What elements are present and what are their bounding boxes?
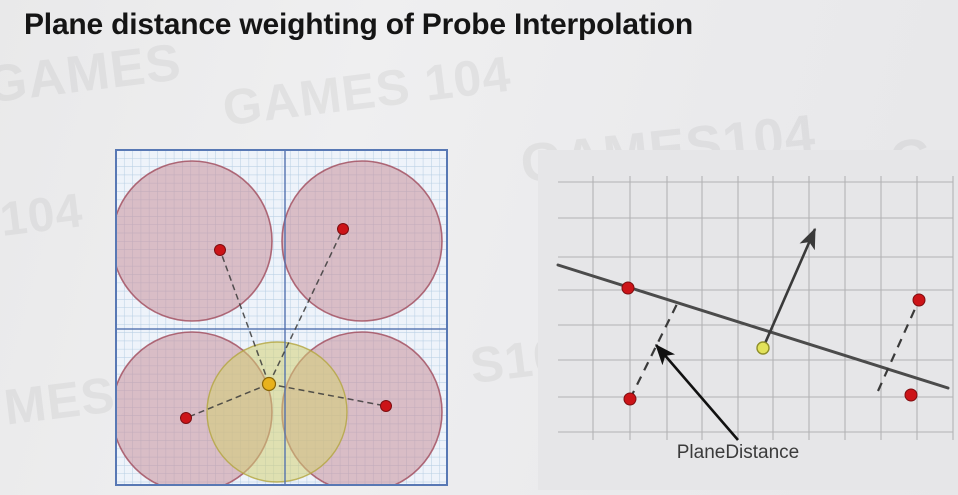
probe-dot-lower-right: [905, 389, 917, 401]
probe-dot-top-left: [215, 245, 226, 256]
probe-circle-top-right: [282, 161, 442, 321]
interpolation-target-dot: [263, 378, 276, 391]
probe-dot-on-plane: [622, 282, 634, 294]
probe-dot-bottom-right: [381, 401, 392, 412]
watermark-text: 104: [0, 183, 86, 248]
probe-dot-below-left: [624, 393, 636, 405]
watermark-text: MES: [1, 365, 119, 436]
probe-dot-top-right: [338, 224, 349, 235]
page-title: Plane distance weighting of Probe Interp…: [24, 8, 693, 42]
probe-dot-upper-right: [913, 294, 925, 306]
plane-distance-svg: PlaneDistance: [548, 170, 958, 490]
interpolation-weight-circle: [207, 342, 347, 482]
gridlines: [538, 150, 958, 490]
probe-grid-svg: [112, 141, 452, 491]
watermark-text: GAMES 104: [220, 45, 515, 138]
diagram-background: [538, 150, 958, 490]
plane-distance-diagram: PlaneDistance: [548, 170, 958, 490]
probe-grid-diagram: [112, 141, 452, 491]
plane-sample-point: [757, 342, 769, 354]
watermark-text: GAMES: [0, 32, 185, 115]
probe-circle-top-left: [112, 161, 272, 321]
probe-dot-bottom-left: [181, 413, 192, 424]
interpolation-weight-circle: [207, 342, 347, 482]
plane-distance-label: PlaneDistance: [677, 442, 800, 463]
